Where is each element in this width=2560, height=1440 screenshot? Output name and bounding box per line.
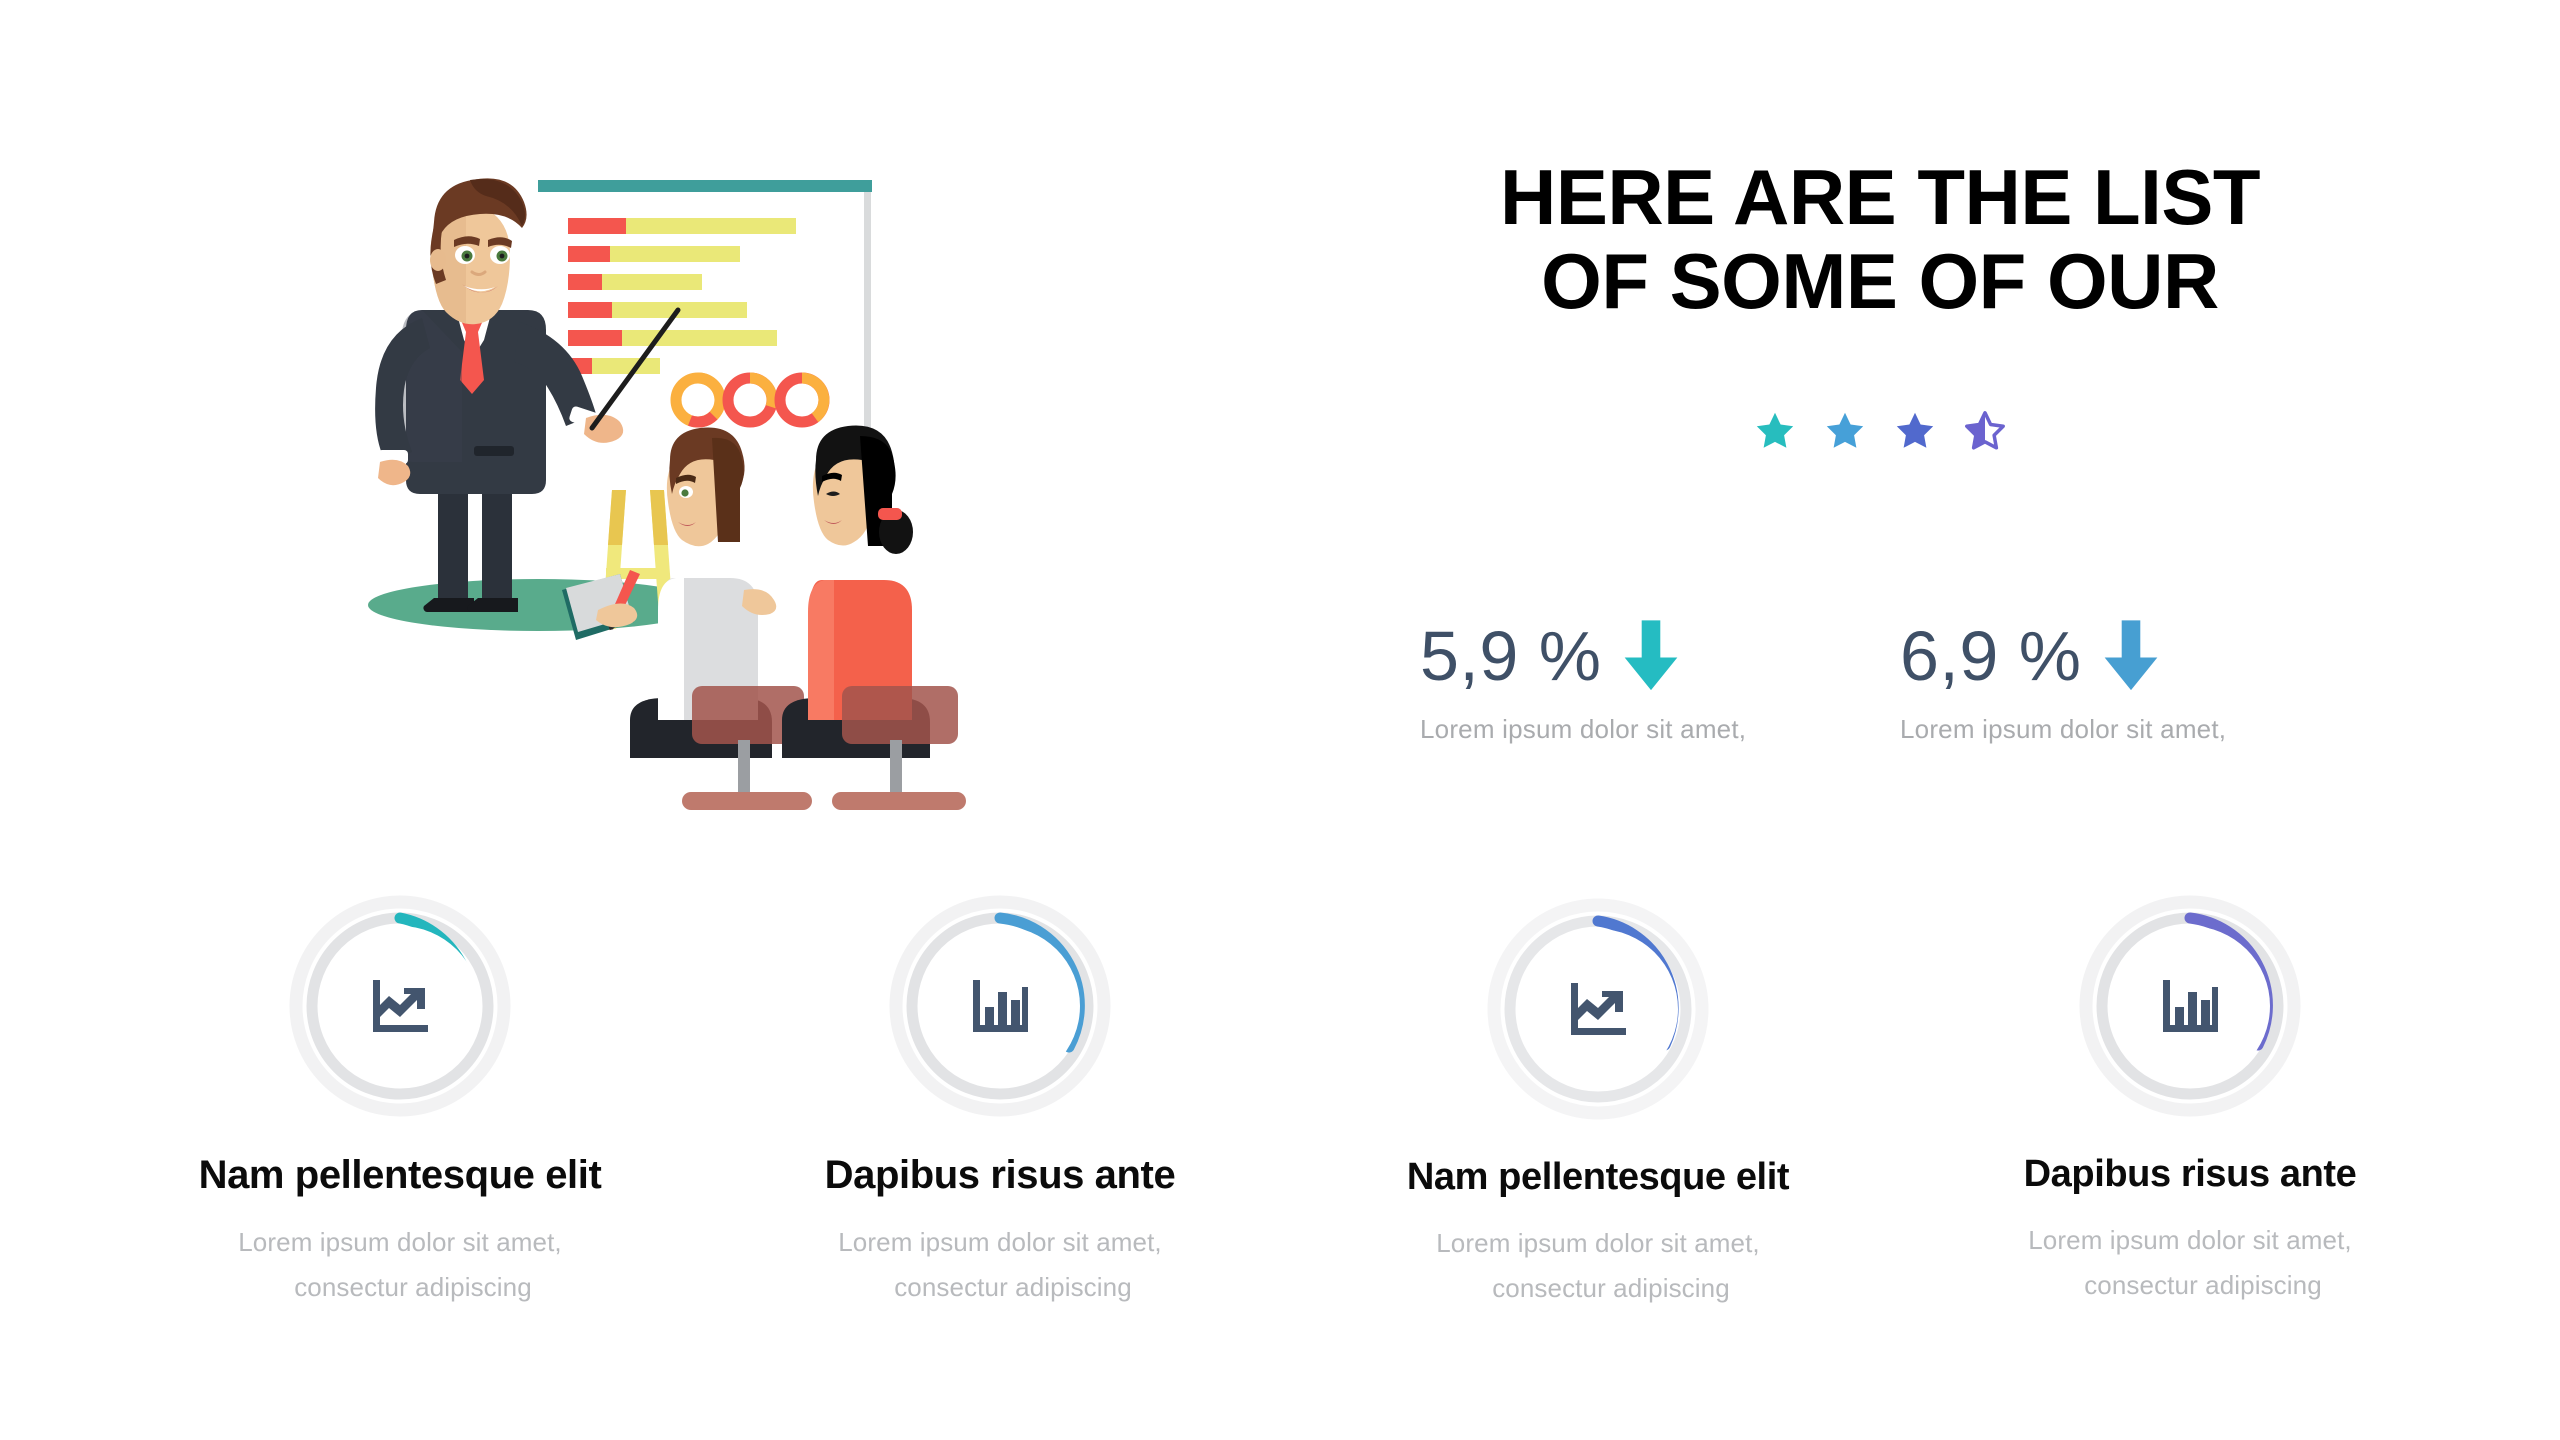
card-desc-line-1: Lorem ipsum dolor sit amet, xyxy=(90,1220,710,1265)
card-description: Lorem ipsum dolor sit amet, consectur ad… xyxy=(90,1220,710,1309)
card-title: Nam pellentesque elit xyxy=(1288,1156,1908,1199)
stat-value: 5,9 % xyxy=(1420,621,1602,691)
star-icon xyxy=(1824,410,1866,452)
headline-line-2: OF SOME OF OUR xyxy=(1420,239,2340,323)
stat-subtitle: Lorem ipsum dolor sit amet, xyxy=(1420,714,1900,745)
bar-chart-icon xyxy=(889,895,1111,1117)
progress-ring-3 xyxy=(1487,898,1709,1136)
metric-card-2[interactable]: Dapibus risus ante Lorem ipsum dolor sit… xyxy=(690,895,1310,1309)
card-desc-line-2: consectur adipiscing xyxy=(1880,1263,2500,1308)
card-desc-line-1: Lorem ipsum dolor sit amet, xyxy=(1288,1221,1908,1266)
card-desc-line-1: Lorem ipsum dolor sit amet, xyxy=(690,1220,1310,1265)
metric-card-3[interactable]: Nam pellentesque elit Lorem ipsum dolor … xyxy=(1288,898,1908,1310)
progress-ring-1 xyxy=(289,895,511,1133)
card-desc-line-2: consectur adipiscing xyxy=(1288,1266,1908,1311)
stat-block-2: 6,9 % Lorem ipsum dolor sit amet, xyxy=(1900,620,2380,745)
bar-chart-icon xyxy=(2079,895,2301,1117)
stat-subtitle: Lorem ipsum dolor sit amet, xyxy=(1900,714,2380,745)
arrow-down-icon xyxy=(2100,620,2162,692)
stats-row: 5,9 % Lorem ipsum dolor sit amet, 6,9 % … xyxy=(1420,620,2430,745)
progress-ring-2 xyxy=(889,895,1111,1133)
stat-value: 6,9 % xyxy=(1900,621,2082,691)
card-title: Dapibus risus ante xyxy=(690,1153,1310,1198)
card-description: Lorem ipsum dolor sit amet, consectur ad… xyxy=(1288,1221,1908,1310)
card-title: Nam pellentesque elit xyxy=(90,1153,710,1198)
card-description: Lorem ipsum dolor sit amet, consectur ad… xyxy=(690,1220,1310,1309)
infographic-slide: HERE ARE THE LIST OF SOME OF OUR 5,9 % xyxy=(0,0,2560,1440)
progress-ring-4 xyxy=(2079,895,2301,1133)
star-icon xyxy=(1894,410,1936,452)
metric-cards: Nam pellentesque elit Lorem ipsum dolor … xyxy=(0,895,2560,1325)
business-presentation-illustration xyxy=(330,160,1080,860)
metric-card-4[interactable]: Dapibus risus ante Lorem ipsum dolor sit… xyxy=(1880,895,2500,1307)
headline-line-1: HERE ARE THE LIST xyxy=(1420,155,2340,239)
page-title: HERE ARE THE LIST OF SOME OF OUR xyxy=(1420,155,2340,323)
card-desc-line-2: consectur adipiscing xyxy=(90,1265,710,1310)
card-description: Lorem ipsum dolor sit amet, consectur ad… xyxy=(1880,1218,2500,1307)
stat-block-1: 5,9 % Lorem ipsum dolor sit amet, xyxy=(1420,620,1900,745)
rating-stars xyxy=(1420,410,2340,452)
arrow-down-icon xyxy=(1620,620,1682,692)
card-desc-line-2: consectur adipiscing xyxy=(690,1265,1310,1310)
card-desc-line-1: Lorem ipsum dolor sit amet, xyxy=(1880,1218,2500,1263)
metric-card-1[interactable]: Nam pellentesque elit Lorem ipsum dolor … xyxy=(90,895,710,1309)
star-icon xyxy=(1754,410,1796,452)
line-chart-up-icon xyxy=(289,895,511,1117)
line-chart-up-icon xyxy=(1487,898,1709,1120)
star-half-icon xyxy=(1964,410,2006,452)
card-title: Dapibus risus ante xyxy=(1880,1153,2500,1196)
